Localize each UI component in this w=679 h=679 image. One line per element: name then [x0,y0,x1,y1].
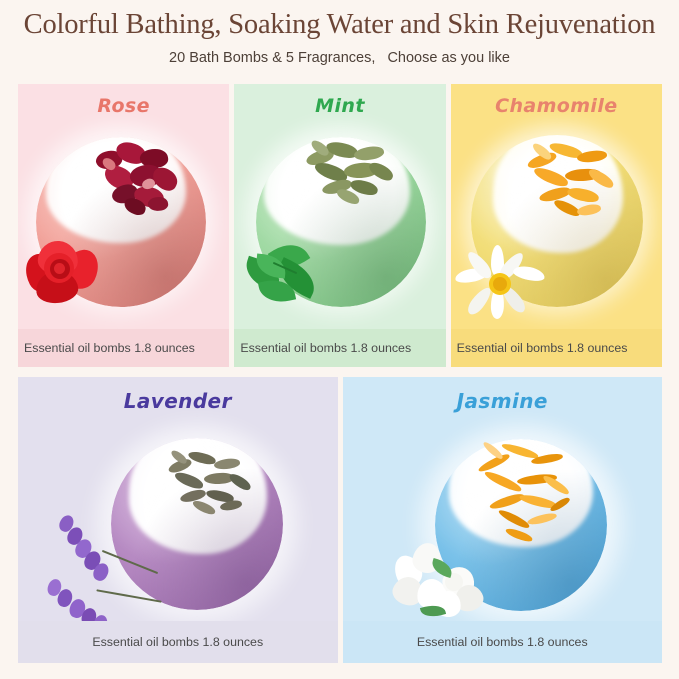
card-image-jasmine [343,413,663,621]
page-subtitle: 20 Bath Bombs & 5 Fragrances, Choose as … [0,41,679,66]
mint-leaf-sprig-icon [242,241,328,311]
rose-petal-cluster [90,141,182,217]
card-title-lavender: Lavender [18,377,338,413]
card-image-mint [234,117,445,329]
marigold-petal-cluster [523,141,619,227]
fragrance-card-jasmine[interactable]: Jasmine [343,377,663,663]
lavender-sprig-icon [44,509,164,639]
card-caption-mint: Essential oil bombs 1.8 ounces [234,329,445,367]
fragrance-card-chamomile[interactable]: Chamomile [451,84,662,367]
card-caption-lavender: Essential oil bombs 1.8 ounces [18,621,338,663]
card-title-chamomile: Chamomile [451,84,662,117]
fragrance-row-top: Rose [18,84,662,367]
card-caption-jasmine: Essential oil bombs 1.8 ounces [343,621,663,663]
card-image-rose [18,117,229,329]
fragrance-row-bottom: Lavender [18,377,662,663]
white-jasmine-flower-icon [391,533,501,629]
dried-mint-leaf-cluster [302,139,398,207]
card-title-rose: Rose [18,84,229,117]
card-caption-rose: Essential oil bombs 1.8 ounces [18,329,229,367]
page-title: Colorful Bathing, Soaking Water and Skin… [0,0,679,41]
red-rose-flower-icon [24,239,102,305]
dried-lavender-bud-cluster [164,451,256,525]
product-infographic: Colorful Bathing, Soaking Water and Skin… [0,0,679,679]
fragrance-card-rose[interactable]: Rose [18,84,229,367]
fragrance-card-lavender[interactable]: Lavender [18,377,338,663]
card-image-chamomile [451,117,662,329]
fragrance-card-mint[interactable]: Mint [234,84,445,367]
fragrance-grid: Rose [18,84,662,663]
card-title-mint: Mint [234,84,445,117]
card-caption-chamomile: Essential oil bombs 1.8 ounces [451,329,662,367]
white-daisy-flower-icon [457,245,541,323]
card-image-lavender [18,413,338,621]
card-title-jasmine: Jasmine [343,377,663,413]
header: Colorful Bathing, Soaking Water and Skin… [0,0,679,66]
